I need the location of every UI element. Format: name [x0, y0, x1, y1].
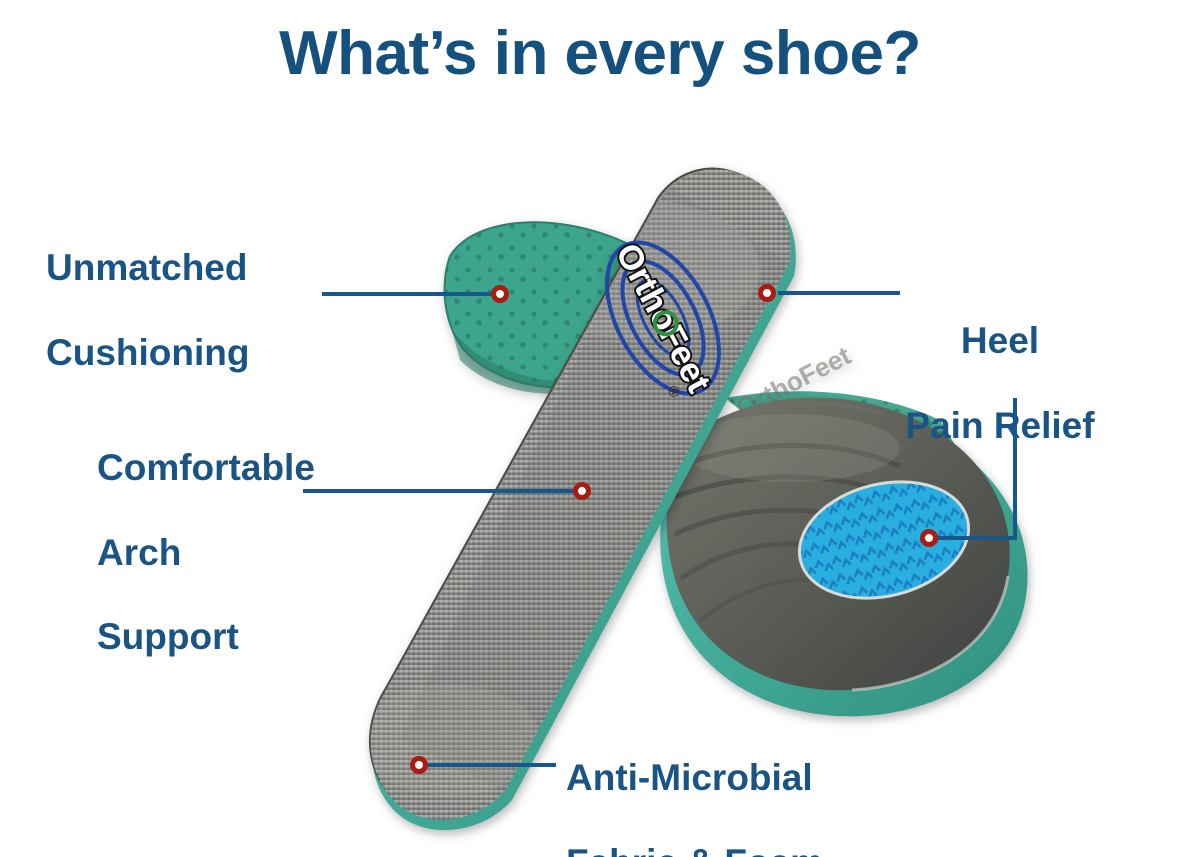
callout-heel-line2: Pain Relief — [875, 405, 1125, 447]
callout-anti-line2: Fabric & Foam — [566, 842, 823, 857]
callout-heel-line1: Heel — [875, 320, 1125, 362]
svg-text:OrthoFeet: OrthoFeet — [608, 237, 718, 398]
leader-line-cushioning — [322, 292, 504, 296]
callout-arch-line1: Comfortable — [97, 447, 315, 489]
svg-text:OrthoFeet: OrthoFeet — [731, 340, 856, 423]
callout-dot-arch-support — [573, 482, 591, 500]
leader-line-arch-support — [303, 489, 586, 493]
callout-cushioning-line1: Unmatched — [46, 247, 249, 289]
callout-dot-heel-upper — [758, 284, 776, 302]
callout-label-cushioning: Unmatched Cushioning — [46, 205, 249, 416]
page-title: What’s in every shoe? — [0, 18, 1200, 89]
teal-foam-insole-back — [445, 222, 668, 393]
svg-text:OrthoFeet: OrthoFeet — [608, 237, 718, 398]
callout-dot-heel-gel-pad — [920, 529, 938, 547]
orthofeet-logo: OrthoFeet OrthoFeet ® — [584, 224, 742, 412]
callout-label-heel-pain-relief: Heel Pain Relief — [875, 278, 1125, 489]
leader-line-heel-vertical — [1013, 398, 1017, 540]
callout-dot-anti-microbial — [410, 756, 428, 774]
callout-arch-line2: Arch — [97, 532, 315, 574]
leader-line-heel-lower — [936, 536, 1017, 540]
callout-dot-cushioning — [491, 285, 509, 303]
heel-cup-texture — [662, 405, 906, 620]
callout-label-arch-support: Comfortable Arch Support — [97, 405, 315, 700]
infographic-canvas: OrthoFeet OrthoFeet OrthoFeet ® — [0, 0, 1200, 857]
leader-line-anti-microbial — [428, 763, 556, 767]
svg-text:®: ® — [663, 383, 683, 401]
callout-label-anti-microbial: Anti-Microbial Fabric & Foam — [566, 715, 823, 857]
leader-line-heel-upper — [778, 291, 900, 295]
callout-anti-line1: Anti-Microbial — [566, 757, 823, 799]
callout-arch-line3: Support — [97, 616, 315, 658]
callout-cushioning-line2: Cushioning — [46, 332, 249, 374]
